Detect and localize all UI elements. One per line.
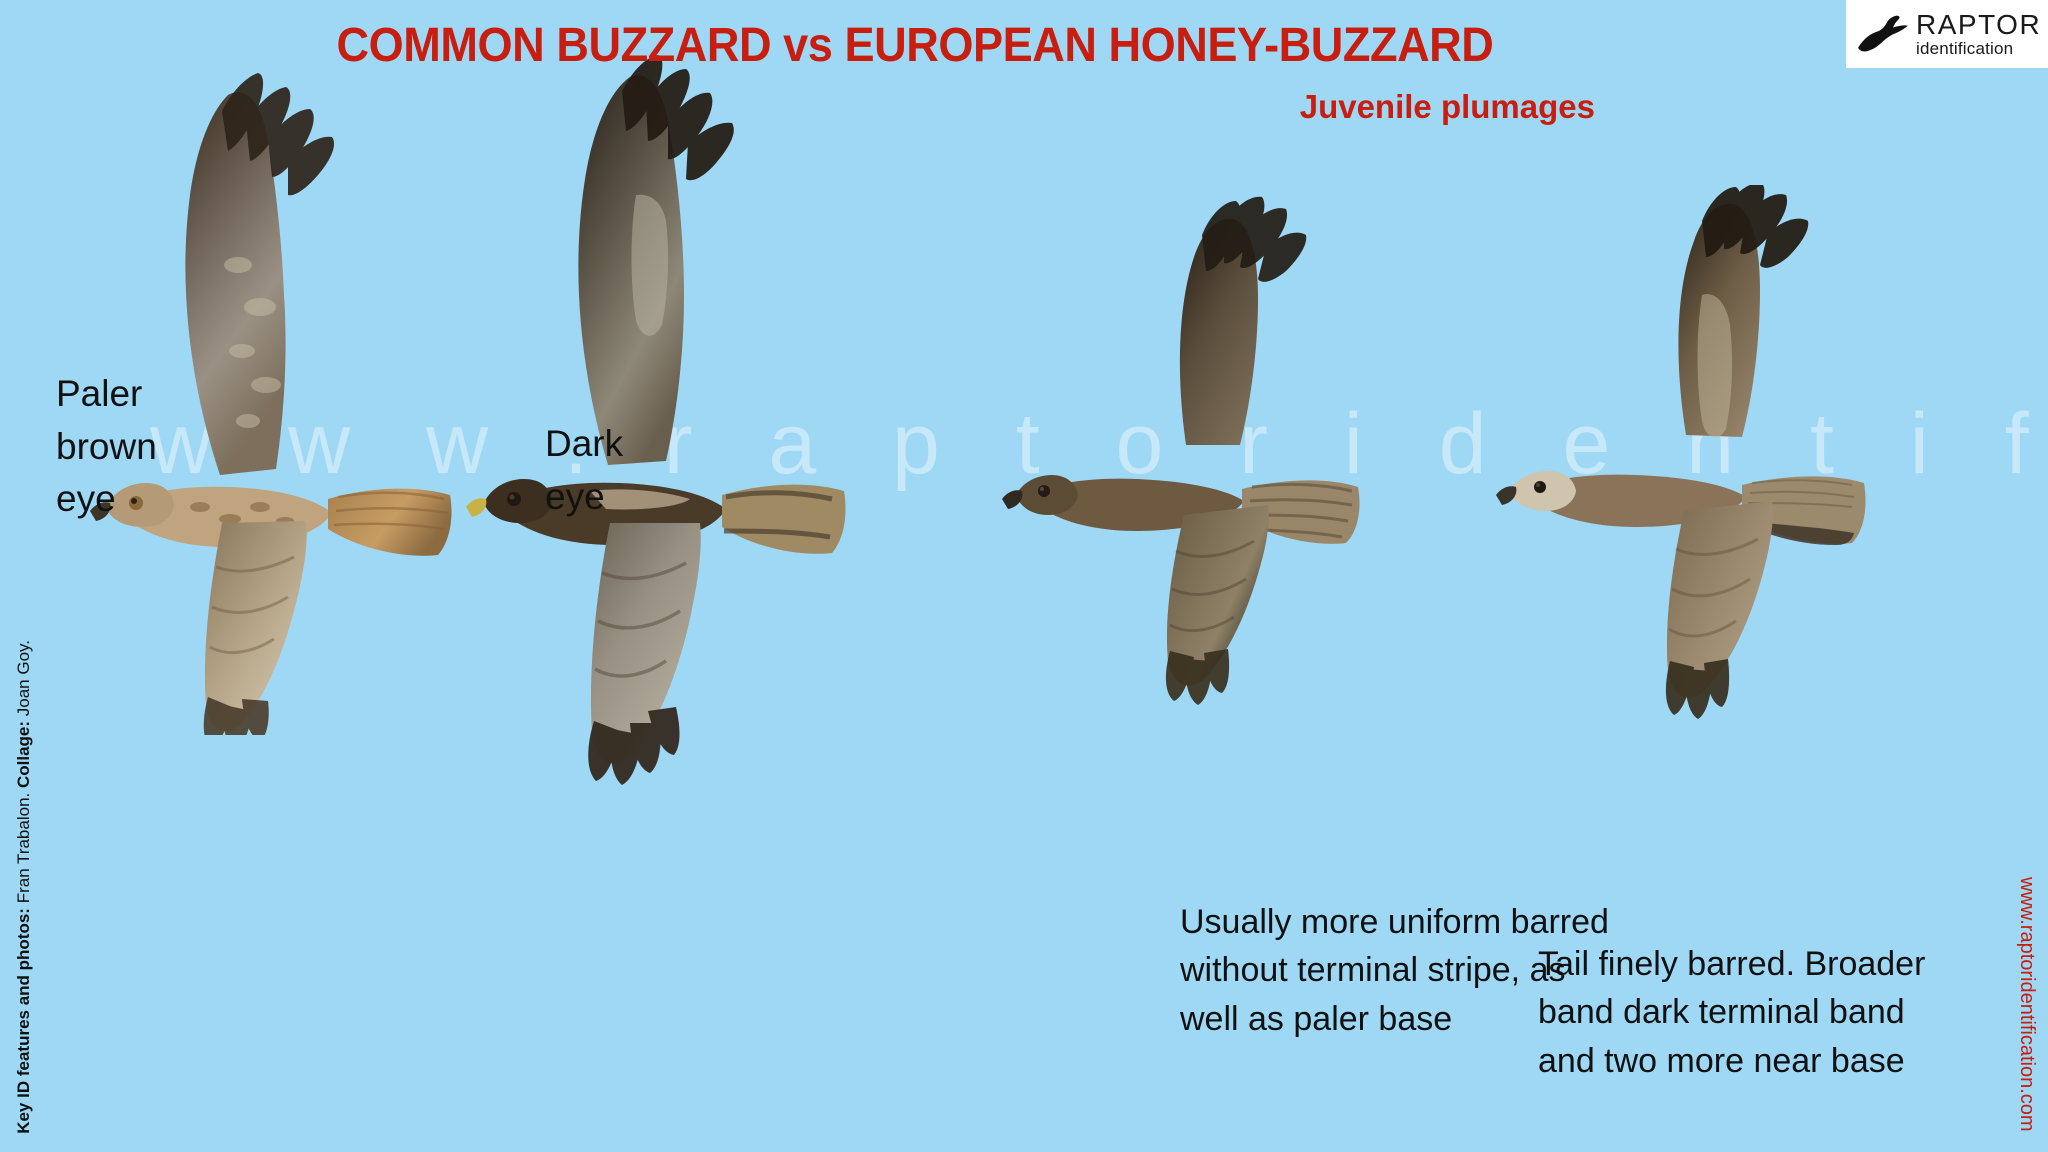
bird-illustration-honey-buzzard-1 [440,45,860,815]
credit-collage-label: Collage: [14,721,33,788]
credit-photos-name: Fran Trabalon. [14,788,33,908]
credit-photos-label: Key ID features and photos: [14,908,33,1134]
page-title: COMMON BUZZARD vs EUROPEAN HONEY-BUZZARD [55,18,1775,73]
logo-sub-text: identification [1916,40,2041,57]
raptor-identification-logo: RAPTOR identification [1846,0,2048,68]
infographic-page: w w w . r a p t o r i d e n t i f i c a … [0,0,2048,1152]
annotation-dark-eye: Dark eye [545,418,623,523]
credit-collage-name: Joan Goy. [14,640,33,721]
photo-credit: Key ID features and photos: Fran Trabalo… [14,640,34,1134]
bird-illustration-common-buzzard-2 [990,195,1410,725]
bird-illustration-honey-buzzard-2 [1480,185,1910,755]
raptor-silhouette-icon [1854,11,1910,57]
page-subtitle: Juvenile plumages [0,88,1595,126]
logo-main-text: RAPTOR [1916,11,2041,39]
annotation-finely-barred-tail: Tail finely barred. Broader band dark te… [1538,940,1925,1085]
annotation-paler-brown-eye: Paler brown eye [56,368,157,526]
website-url: www.raptoridentification.com [2015,877,2038,1132]
